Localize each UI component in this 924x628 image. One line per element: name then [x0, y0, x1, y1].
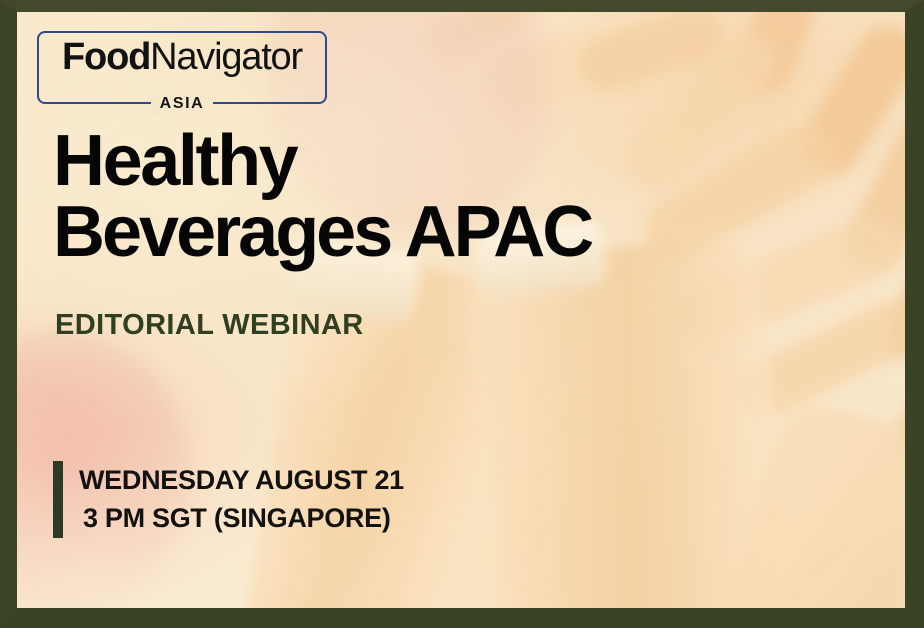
banner-content: FoodNavigator ASIA Healthy Beverages APA… — [17, 12, 905, 608]
logo-wordmark: FoodNavigator — [39, 36, 325, 79]
event-time: 3 PM SGT (SINGAPORE) — [79, 499, 404, 537]
title-line-1: Healthy — [53, 126, 913, 197]
event-datetime-lines: WEDNESDAY AUGUST 21 3 PM SGT (SINGAPORE) — [63, 461, 404, 538]
page-title: Healthy Beverages APAC — [53, 126, 913, 269]
logo-word-navigator: Navigator — [150, 36, 302, 78]
logo-region-wrap: ASIA — [39, 95, 325, 113]
webinar-promo-banner: FoodNavigator ASIA Healthy Beverages APA… — [0, 0, 924, 628]
title-line-2: Beverages APAC — [53, 197, 913, 268]
logo-word-food: Food — [62, 36, 150, 78]
subtitle-editorial-webinar: EDITORIAL WEBINAR — [55, 309, 364, 342]
foodnavigator-logo: FoodNavigator ASIA — [37, 31, 327, 104]
event-date: WEDNESDAY AUGUST 21 — [79, 461, 404, 499]
event-datetime-block: WEDNESDAY AUGUST 21 3 PM SGT (SINGAPORE) — [53, 461, 404, 538]
accent-bar — [53, 461, 63, 538]
logo-region-asia: ASIA — [151, 95, 214, 113]
